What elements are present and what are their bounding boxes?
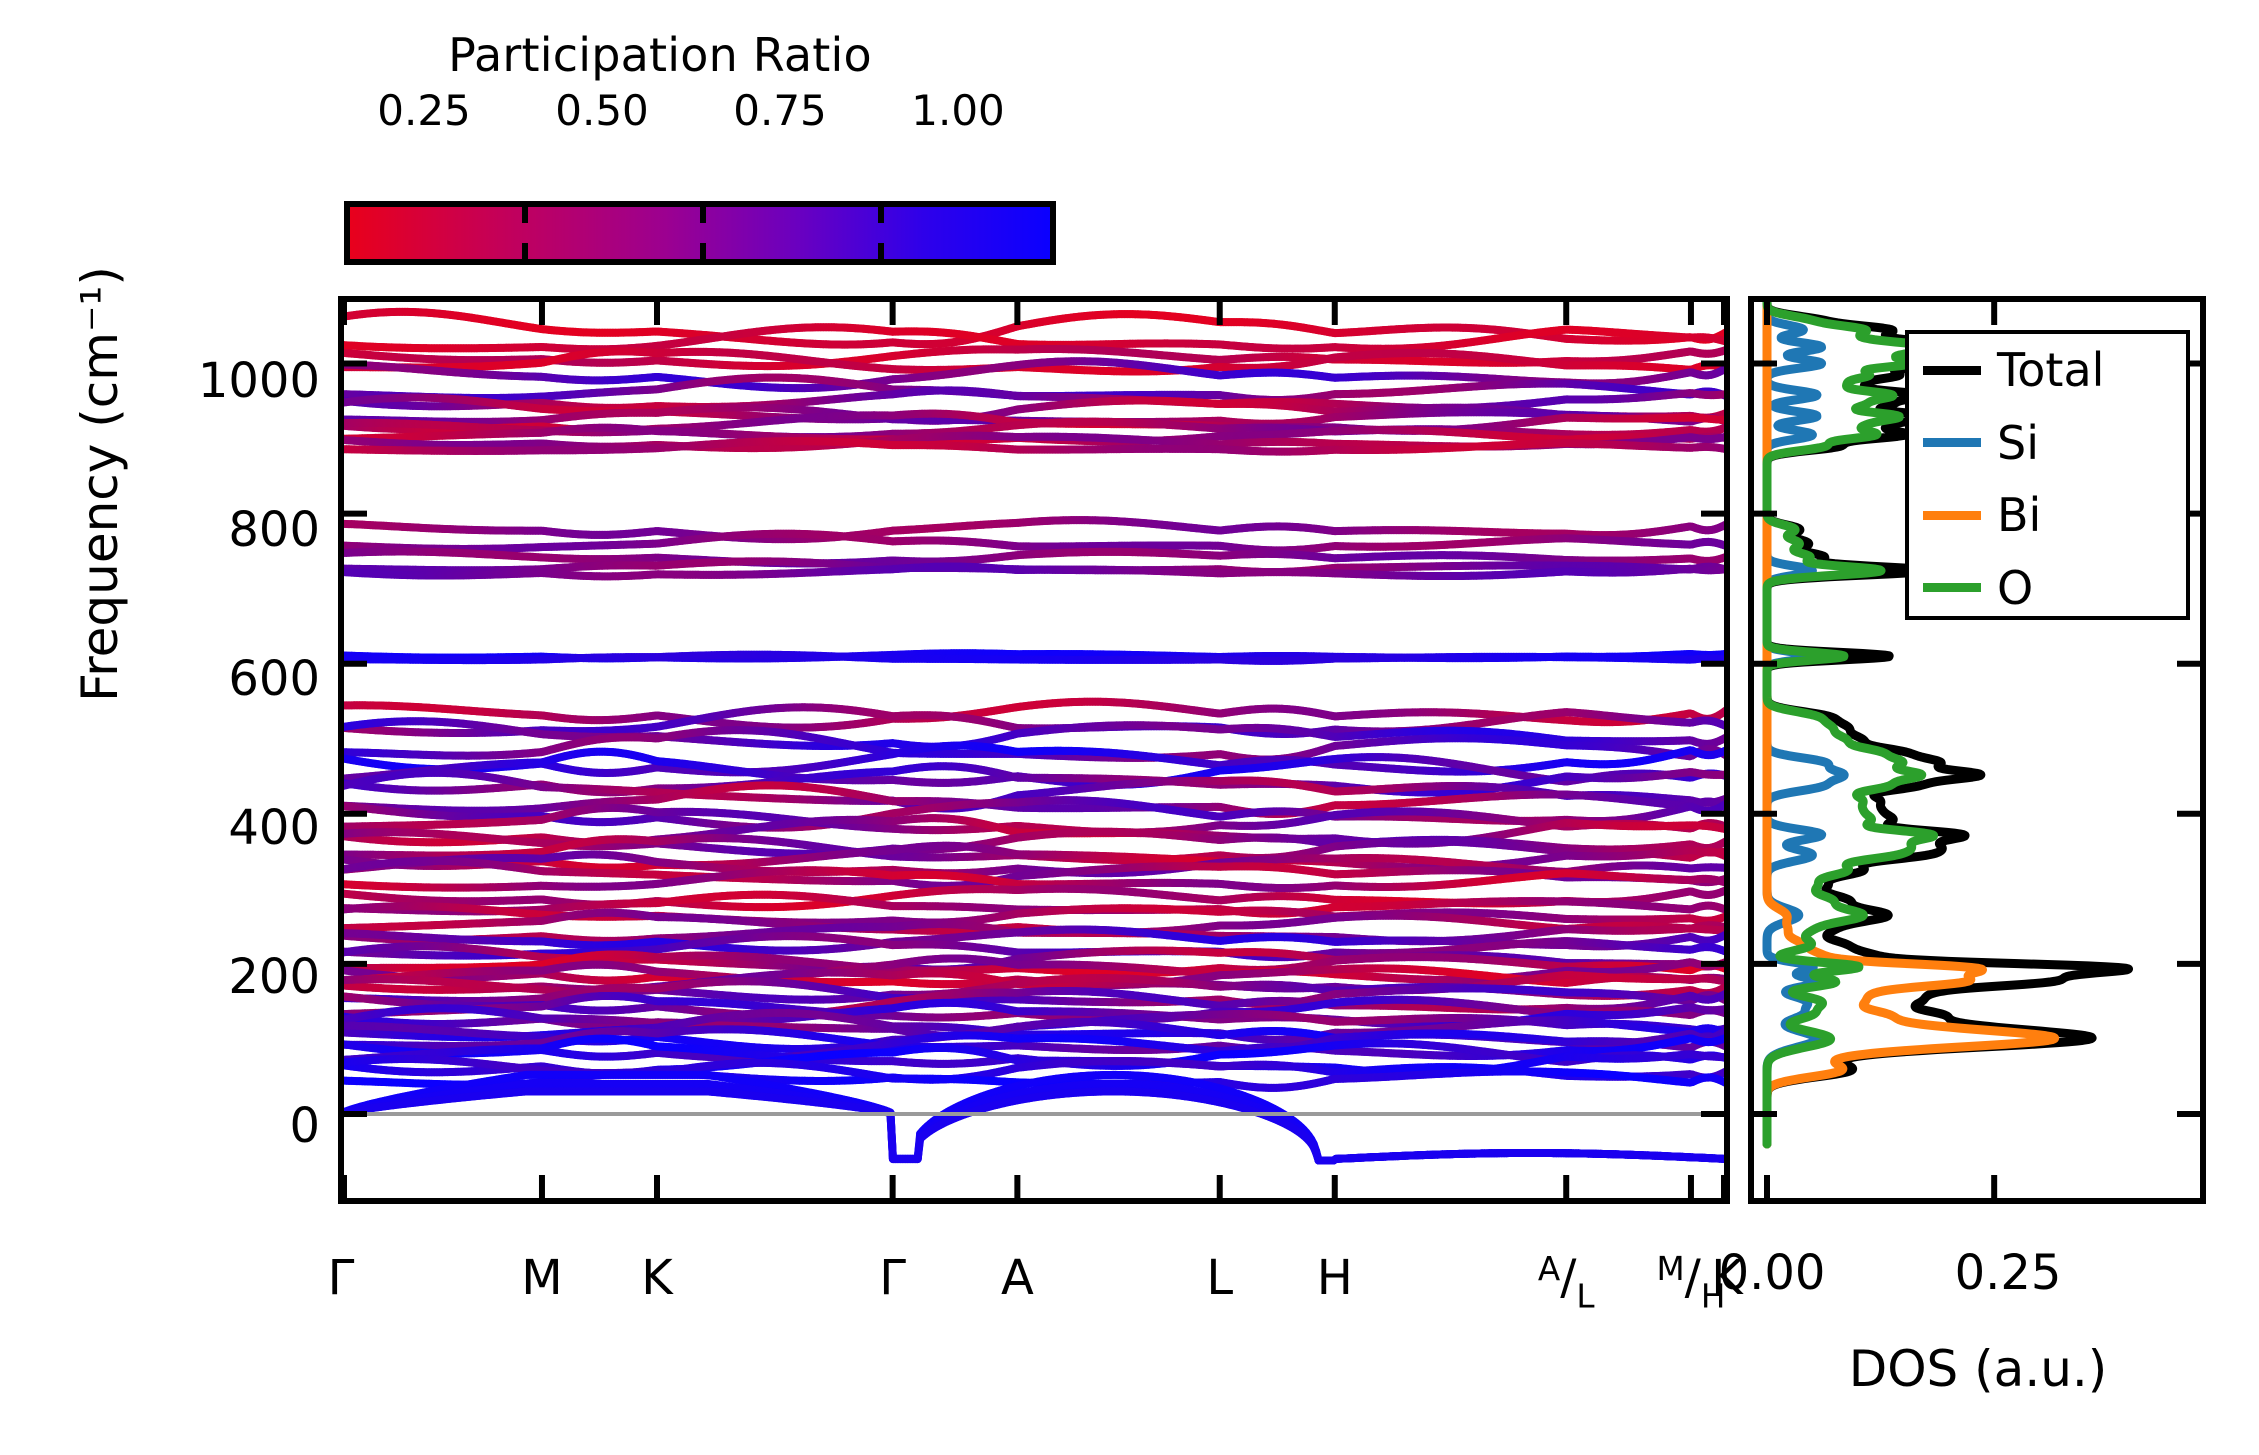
dos-x-tick-1: 0.25 [1955, 1245, 2062, 1301]
y-axis-tick-labels: 1000 800 600 400 200 0 [60, 0, 320, 1455]
y-tick-200: 200 [228, 949, 320, 1005]
dos-x-axis-label: DOS (a.u.) [1748, 1340, 2208, 1398]
legend-label-bi: Bi [1997, 492, 2041, 538]
x-tick-label-6: H [1317, 1250, 1353, 1306]
colorbar-tickmark-2b [878, 243, 884, 259]
colorbar-tickmark-2 [878, 207, 884, 223]
y-tick-400: 400 [228, 800, 320, 856]
colorbar-tick-2: 0.75 [733, 86, 827, 135]
x-tick-label-0: Γ [328, 1250, 355, 1306]
legend-swatch-bi [1923, 511, 1981, 520]
x-tick-label-3: Γ [879, 1250, 906, 1306]
legend-item-si: Si [1909, 407, 2186, 480]
legend-label-si: Si [1997, 420, 2039, 466]
figure-canvas: Participation Ratio 0.25 0.50 0.75 1.00 … [0, 0, 2259, 1455]
y-tick-1000: 1000 [198, 353, 320, 409]
dos-x-tick-0: 0.00 [1719, 1245, 1826, 1301]
x-tick-label-5: L [1206, 1250, 1233, 1306]
phonon-band-structure-plot [338, 296, 1730, 1204]
y-tick-0: 0 [289, 1098, 320, 1154]
x-tick-label-4: A [1001, 1250, 1034, 1306]
legend-swatch-total [1923, 366, 1981, 375]
colorbar-tick-0: 0.25 [377, 86, 471, 135]
colorbar-title: Participation Ratio [310, 28, 1010, 82]
legend-item-total: Total [1909, 334, 2186, 407]
colorbar-tickmark-0 [522, 207, 528, 223]
y-tick-800: 800 [228, 502, 320, 558]
legend-item-o: O [1909, 552, 2186, 625]
legend-swatch-si [1923, 438, 1981, 447]
legend-item-bi: Bi [1909, 479, 2186, 552]
colorbar-tick-3: 1.00 [911, 86, 1005, 135]
legend-label-o: O [1997, 565, 2033, 611]
x-tick-label-1: M [521, 1250, 562, 1306]
y-tick-600: 600 [228, 651, 320, 707]
participation-ratio-colorbar [344, 201, 1056, 265]
colorbar-tickmark-0b [522, 243, 528, 259]
colorbar-tick-1: 0.50 [555, 86, 649, 135]
x-tick-label-7: A/L [1538, 1250, 1595, 1313]
x-tick-label-2: K [641, 1250, 672, 1306]
dos-legend: Total Si Bi O [1905, 330, 2190, 620]
colorbar-tickmark-1b [700, 243, 706, 259]
colorbar-tick-labels: 0.25 0.50 0.75 1.00 [340, 86, 1060, 136]
legend-swatch-o [1923, 583, 1981, 592]
legend-label-total: Total [1997, 347, 2104, 393]
colorbar-tickmark-1 [700, 207, 706, 223]
